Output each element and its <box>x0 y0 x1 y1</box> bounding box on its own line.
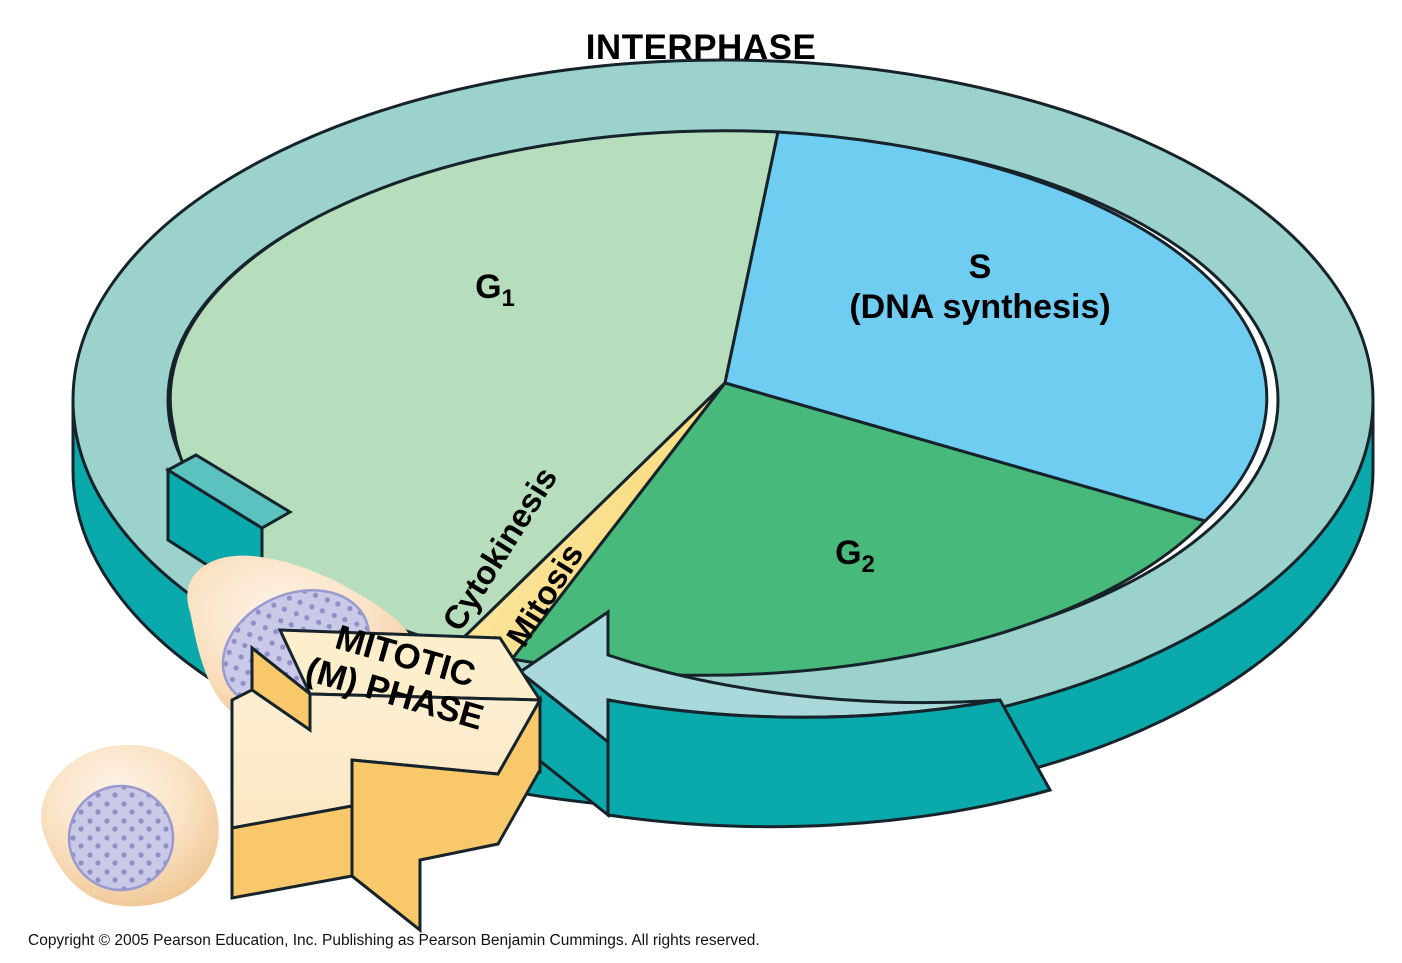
daughter-cell-lower <box>41 745 219 907</box>
cell-cycle-figure: INTERPHASE G1 G2 S (DNA synthesis) Cytok… <box>0 0 1402 963</box>
mitotic-phase-arrow <box>232 630 540 930</box>
nucleus-lower <box>69 786 173 890</box>
cell-cycle-diagram <box>0 0 1402 963</box>
copyright-notice: Copyright © 2005 Pearson Education, Inc.… <box>28 932 760 950</box>
